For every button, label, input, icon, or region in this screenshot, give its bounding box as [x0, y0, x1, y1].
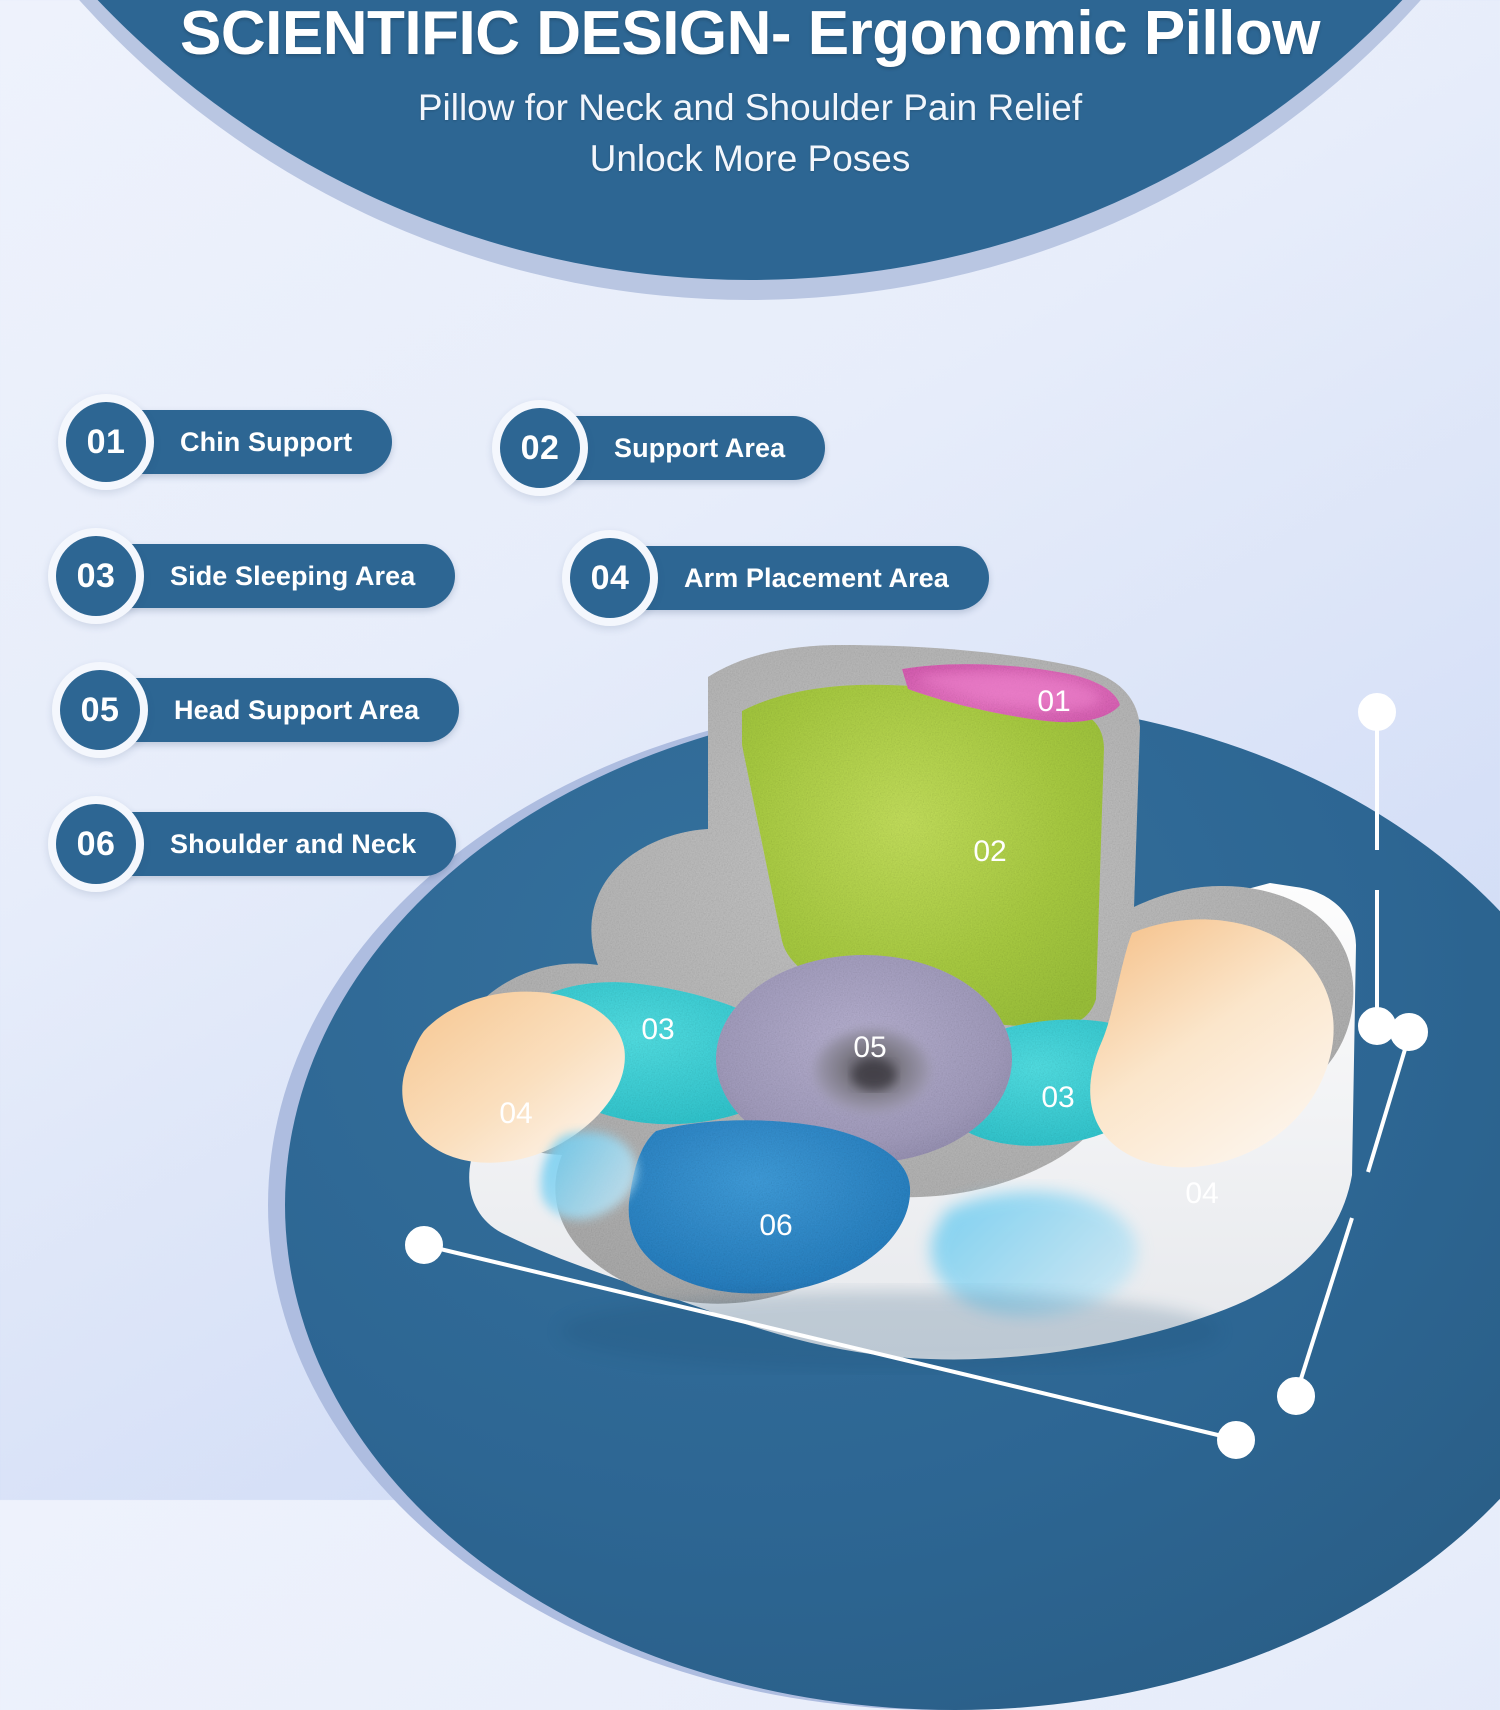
- marker-01: 01: [1037, 685, 1070, 718]
- marker-02: 02: [973, 835, 1006, 868]
- legend-number-badge-04: 04: [562, 530, 658, 626]
- marker-03-left: 03: [641, 1013, 674, 1046]
- legend-number-05: 05: [60, 670, 140, 750]
- marker-05: 05: [853, 1031, 886, 1064]
- legend-number-badge-02: 02: [492, 400, 588, 496]
- legend-number-01: 01: [66, 402, 146, 482]
- ergonomic-pillow-illustration: 01 02 03 05 03 04 06 04: [390, 615, 1400, 1375]
- legend-number-badge-06: 06: [48, 796, 144, 892]
- pillow-drop-shadow: [560, 1291, 1220, 1371]
- header-banner: SCIENTIFIC DESIGN- Ergonomic Pillow Pill…: [0, 0, 1500, 280]
- legend-item-03[interactable]: 03 Side Sleeping Area: [48, 528, 455, 624]
- marker-03-right: 03: [1041, 1081, 1074, 1114]
- legend-number-06: 06: [56, 804, 136, 884]
- legend-item-04[interactable]: 04 Arm Placement Area: [562, 530, 989, 626]
- legend-number-03: 03: [56, 536, 136, 616]
- page-title: SCIENTIFIC DESIGN- Ergonomic Pillow: [180, 0, 1320, 68]
- marker-04-left: 04: [499, 1097, 532, 1130]
- legend-number-badge-01: 01: [58, 394, 154, 490]
- subtitle-line-1: Pillow for Neck and Shoulder Pain Relief: [418, 87, 1082, 128]
- legend-number-badge-05: 05: [52, 662, 148, 758]
- legend-item-05[interactable]: 05 Head Support Area: [52, 662, 459, 758]
- marker-06: 06: [759, 1209, 792, 1242]
- subtitle-line-2: Unlock More Poses: [590, 138, 911, 179]
- marker-04-right: 04: [1185, 1177, 1218, 1210]
- legend-item-06[interactable]: 06 Shoulder and Neck: [48, 796, 456, 892]
- legend-number-badge-03: 03: [48, 528, 144, 624]
- page-subtitle: Pillow for Neck and Shoulder Pain Relief…: [418, 82, 1082, 184]
- legend-item-02[interactable]: 02 Support Area: [492, 400, 825, 496]
- legend-number-02: 02: [500, 408, 580, 488]
- zone-05-hole-core: [852, 1060, 896, 1090]
- legend-item-01[interactable]: 01 Chin Support: [58, 394, 392, 490]
- legend-number-04: 04: [570, 538, 650, 618]
